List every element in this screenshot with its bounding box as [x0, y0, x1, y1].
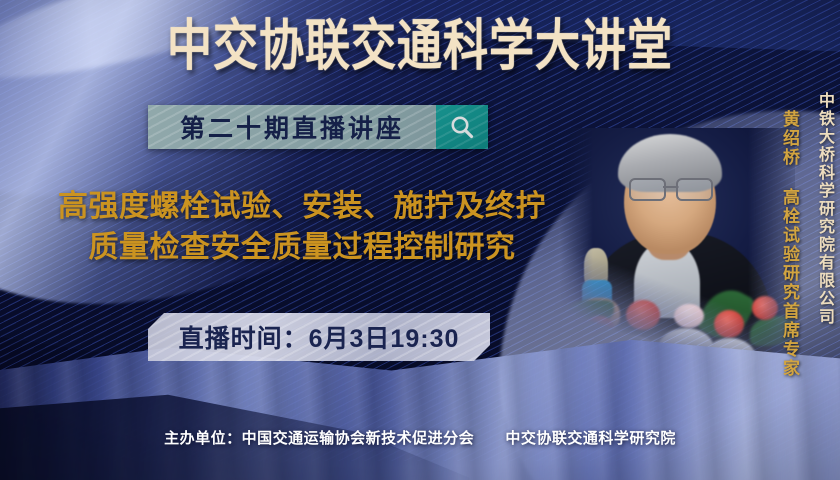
lecture-topic: 高强度螺栓试验、安装、施拧及终拧 质量检查安全质量过程控制研究	[12, 186, 592, 269]
episode-search-bar[interactable]: 第二十期直播讲座	[148, 105, 488, 149]
speaker-organization: 中铁大桥科学研究院有限公司	[815, 92, 832, 326]
broadcast-time-badge: 直播时间：6月3日19:30	[148, 313, 490, 361]
footer-organizers: 主办单位：中国交通运输协会新技术促进分会 中交协联交通科学研究院	[0, 427, 840, 448]
speaker-name-and-role: 黄绍桥 高栓试验研究首席专家	[780, 110, 798, 378]
lecture-topic-line-2: 质量检查安全质量过程控制研究	[12, 227, 592, 268]
bouquet-red-flower	[584, 316, 614, 342]
glasses-lens-right	[676, 178, 713, 201]
search-button[interactable]	[436, 105, 488, 149]
lecture-topic-line-1: 高强度螺栓试验、安装、施拧及终拧	[58, 190, 546, 223]
portrait-glasses	[628, 178, 714, 198]
episode-search-text: 第二十期直播讲座	[180, 109, 404, 145]
search-icon	[448, 113, 476, 141]
poster-main-title: 中交协联交通科学大讲堂	[0, 18, 840, 73]
bouquet-red-flower	[714, 310, 744, 338]
bouquet-pink-flower	[674, 304, 704, 328]
broadcast-time-text: 直播时间：6月3日19:30	[179, 319, 460, 355]
episode-search-field[interactable]: 第二十期直播讲座	[148, 105, 436, 149]
footer-co-organization: 中交协联交通科学研究院	[505, 430, 676, 447]
bouquet-red-flower	[626, 300, 660, 330]
footer-host-organization: 主办单位：中国交通运输协会新技术促进分会	[164, 430, 474, 447]
bouquet-red-flower	[752, 296, 778, 320]
glasses-lens-left	[629, 178, 666, 201]
speaker-portrait	[560, 128, 795, 378]
live-lecture-poster: 中交协联交通科学大讲堂 第二十期直播讲座 高强度螺栓试验、安装、施拧及终拧 质量…	[0, 0, 840, 480]
